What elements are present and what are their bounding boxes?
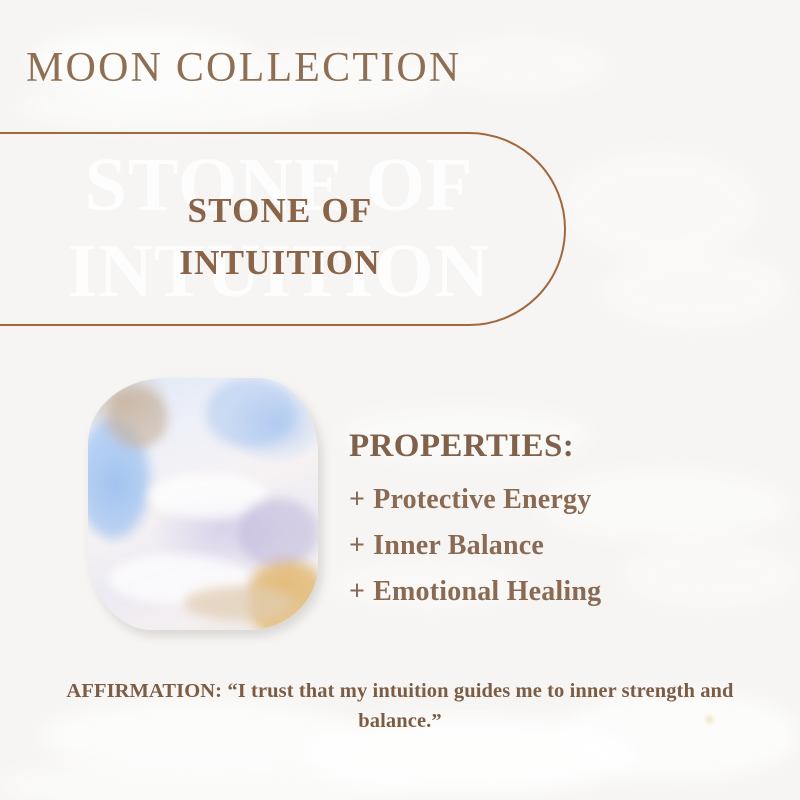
affirmation-section: AFFIRMATION: “I trust that my intuition … (30, 676, 770, 736)
background-texture-blob (560, 150, 760, 260)
moonstone-image (88, 378, 318, 630)
plus-icon: + (349, 484, 365, 515)
banner-heading-line-1: STONE OF (30, 185, 530, 237)
background-texture-blob (0, 756, 420, 800)
property-item-label: Inner Balance (373, 530, 544, 561)
property-item: +Protective Energy (349, 477, 769, 523)
properties-heading: PROPERTIES: (349, 428, 769, 465)
stone-streak (248, 564, 318, 630)
crystal-info-card: MOON COLLECTION STONE OF INTUITION STONE… (0, 0, 800, 800)
plus-icon: + (349, 576, 365, 607)
stone-streak (238, 498, 318, 568)
property-item-label: Emotional Healing (373, 576, 601, 607)
stone-image-container (36, 372, 328, 634)
affirmation-label: AFFIRMATION: (66, 680, 222, 702)
banner-heading: STONE OF INTUITION (30, 185, 530, 289)
stone-streak (108, 388, 168, 448)
stone-streak (206, 378, 296, 448)
stone-streak (148, 474, 268, 518)
property-item-label: Protective Energy (373, 484, 591, 515)
stone-streak (108, 554, 248, 604)
background-texture-blob (600, 250, 790, 330)
property-item: +Emotional Healing (349, 569, 769, 615)
page-title: MOON COLLECTION (26, 44, 461, 92)
stone-streak (88, 418, 148, 538)
stone-streak (184, 586, 294, 620)
properties-section: PROPERTIES: +Protective Energy +Inner Ba… (349, 428, 769, 615)
property-item: +Inner Balance (349, 523, 769, 569)
banner-heading-line-2: INTUITION (30, 237, 530, 289)
affirmation-quote: “I trust that my intuition guides me to … (227, 680, 733, 732)
plus-icon: + (349, 530, 365, 561)
